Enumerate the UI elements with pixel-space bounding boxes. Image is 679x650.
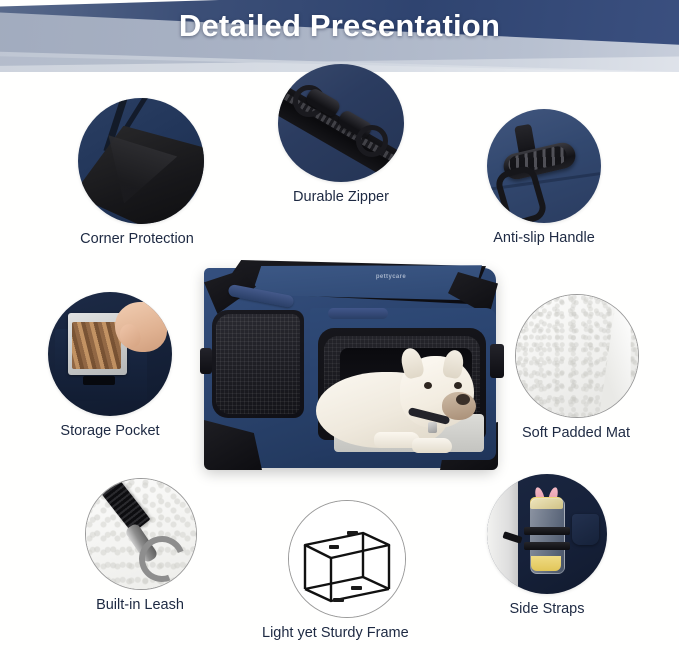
feature-soft-padded-mat: Soft Padded Mat <box>515 294 639 441</box>
feature-label-built-in-leash: Built-in Leash <box>85 597 195 613</box>
feature-label-storage-pocket: Storage Pocket <box>48 423 172 439</box>
crate-side-mesh-window <box>216 314 300 414</box>
dog-collar-tag <box>428 422 437 433</box>
feature-corner-protection: Corner Protection <box>78 98 204 247</box>
durable-zipper-icon <box>278 64 404 182</box>
crate-front-handle <box>328 308 388 319</box>
feature-label-anti-slip-handle: Anti-slip Handle <box>487 230 601 246</box>
feature-label-side-straps: Side Straps <box>487 601 607 617</box>
feature-durable-zipper: Durable Zipper <box>278 64 404 205</box>
dog-photo <box>316 350 494 460</box>
sturdy-frame-icon <box>288 500 406 618</box>
product-image: pettycare <box>190 252 510 492</box>
brand-logo: pettycare <box>368 274 414 280</box>
feature-side-straps: Side Straps <box>487 474 607 617</box>
dog-eye-right <box>454 382 462 389</box>
feature-label-corner-protection: Corner Protection <box>74 231 200 247</box>
built-in-leash-icon <box>85 478 197 590</box>
corner-protection-icon <box>78 98 204 224</box>
feature-anti-slip-handle: Anti-slip Handle <box>487 109 601 246</box>
storage-pocket-icon <box>48 292 172 416</box>
dog-front-paw-right <box>412 438 452 453</box>
anti-slip-handle-icon <box>487 109 601 223</box>
dog-nose <box>456 394 470 405</box>
feature-sturdy-frame: Light yet Sturdy Frame <box>288 500 406 641</box>
feature-built-in-leash: Built-in Leash <box>85 478 197 613</box>
feature-label-soft-padded-mat: Soft Padded Mat <box>515 425 637 441</box>
soft-padded-mat-icon <box>515 294 639 418</box>
feature-storage-pocket: Storage Pocket <box>48 292 172 439</box>
side-straps-icon <box>487 474 607 594</box>
page-title: Detailed Presentation <box>0 8 679 44</box>
feature-label-sturdy-frame: Light yet Sturdy Frame <box>262 625 378 641</box>
product-feature-infographic: Detailed Presentation Corner Protection <box>0 0 679 650</box>
dog-eye-left <box>424 382 432 389</box>
crate-side-strap-left <box>200 348 212 374</box>
feature-label-durable-zipper: Durable Zipper <box>278 189 404 205</box>
